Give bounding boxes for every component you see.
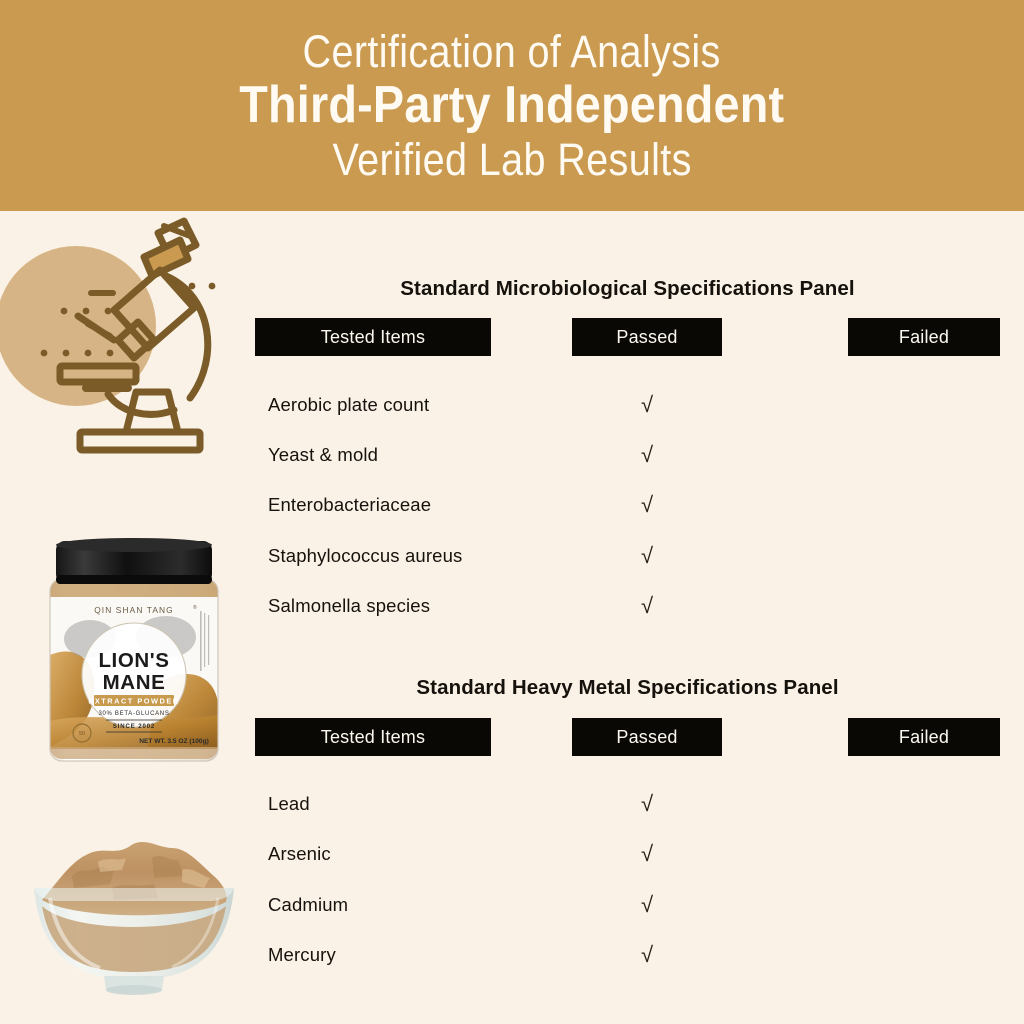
tested-item-name: Yeast & mold [268,442,568,468]
table-row: Aerobic plate count √ [0,392,1024,418]
column-header-tested-items: Tested Items [255,318,491,356]
jar-product-line2: MANE [103,671,166,694]
table-header-row-microbiological: Tested Items Passed Failed [0,318,1024,356]
panel-title-microbiological: Standard Microbiological Specifications … [255,277,1000,301]
header-line-third-party: Third-Party Independent [240,77,785,133]
passed-check: √ [572,791,722,817]
tested-item-name: Mercury [268,942,568,968]
failed-check [848,841,1000,867]
failed-check [848,593,1000,619]
failed-check [848,442,1000,468]
failed-check [848,942,1000,968]
failed-check [848,791,1000,817]
passed-check: √ [572,892,722,918]
panel-title-heavy-metal: Standard Heavy Metal Specifications Pane… [255,676,1000,700]
tested-item-name: Salmonella species [268,593,568,619]
table-row: Lead √ [0,791,1024,817]
passed-check: √ [572,593,722,619]
column-header-passed: Passed [572,718,722,756]
tested-item-name: Lead [268,791,568,817]
table-row: Salmonella species √ [0,593,1024,619]
passed-check: √ [572,942,722,968]
table-row: Staphylococcus aureus √ [0,543,1024,569]
failed-check [848,392,1000,418]
failed-check [848,892,1000,918]
tested-item-name: Cadmium [268,892,568,918]
failed-check [848,492,1000,518]
table-row: Enterobacteriaceae √ [0,492,1024,518]
passed-check: √ [572,841,722,867]
tested-item-name: Aerobic plate count [268,392,568,418]
column-header-passed: Passed [572,318,722,356]
header-line-certification: Certification of Analysis [303,28,721,76]
column-header-tested-items: Tested Items [255,718,491,756]
table-row: Arsenic √ [0,841,1024,867]
tested-item-name: Staphylococcus aureus [268,543,568,569]
table-row: Mercury √ [0,942,1024,968]
header-banner: Certification of Analysis Third-Party In… [0,0,1024,211]
column-header-failed: Failed [848,718,1000,756]
column-header-failed: Failed [848,318,1000,356]
passed-check: √ [572,492,722,518]
jar-potency: 30% BETA-GLUCANS [98,711,169,717]
jar-product-form: EXTRACT POWDER [88,697,179,706]
table-row: Cadmium √ [0,892,1024,918]
passed-check: √ [572,543,722,569]
table-header-row-heavy-metal: Tested Items Passed Failed [0,718,1024,756]
failed-check [848,543,1000,569]
tested-item-name: Enterobacteriaceae [268,492,568,518]
header-line-verified: Verified Lab Results [332,136,691,184]
coa-infographic: Certification of Analysis Third-Party In… [0,0,1024,1024]
passed-check: √ [572,392,722,418]
jar-product-line1: LION'S [98,649,169,672]
table-row: Yeast & mold √ [0,442,1024,468]
tested-item-name: Arsenic [268,841,568,867]
passed-check: √ [572,442,722,468]
